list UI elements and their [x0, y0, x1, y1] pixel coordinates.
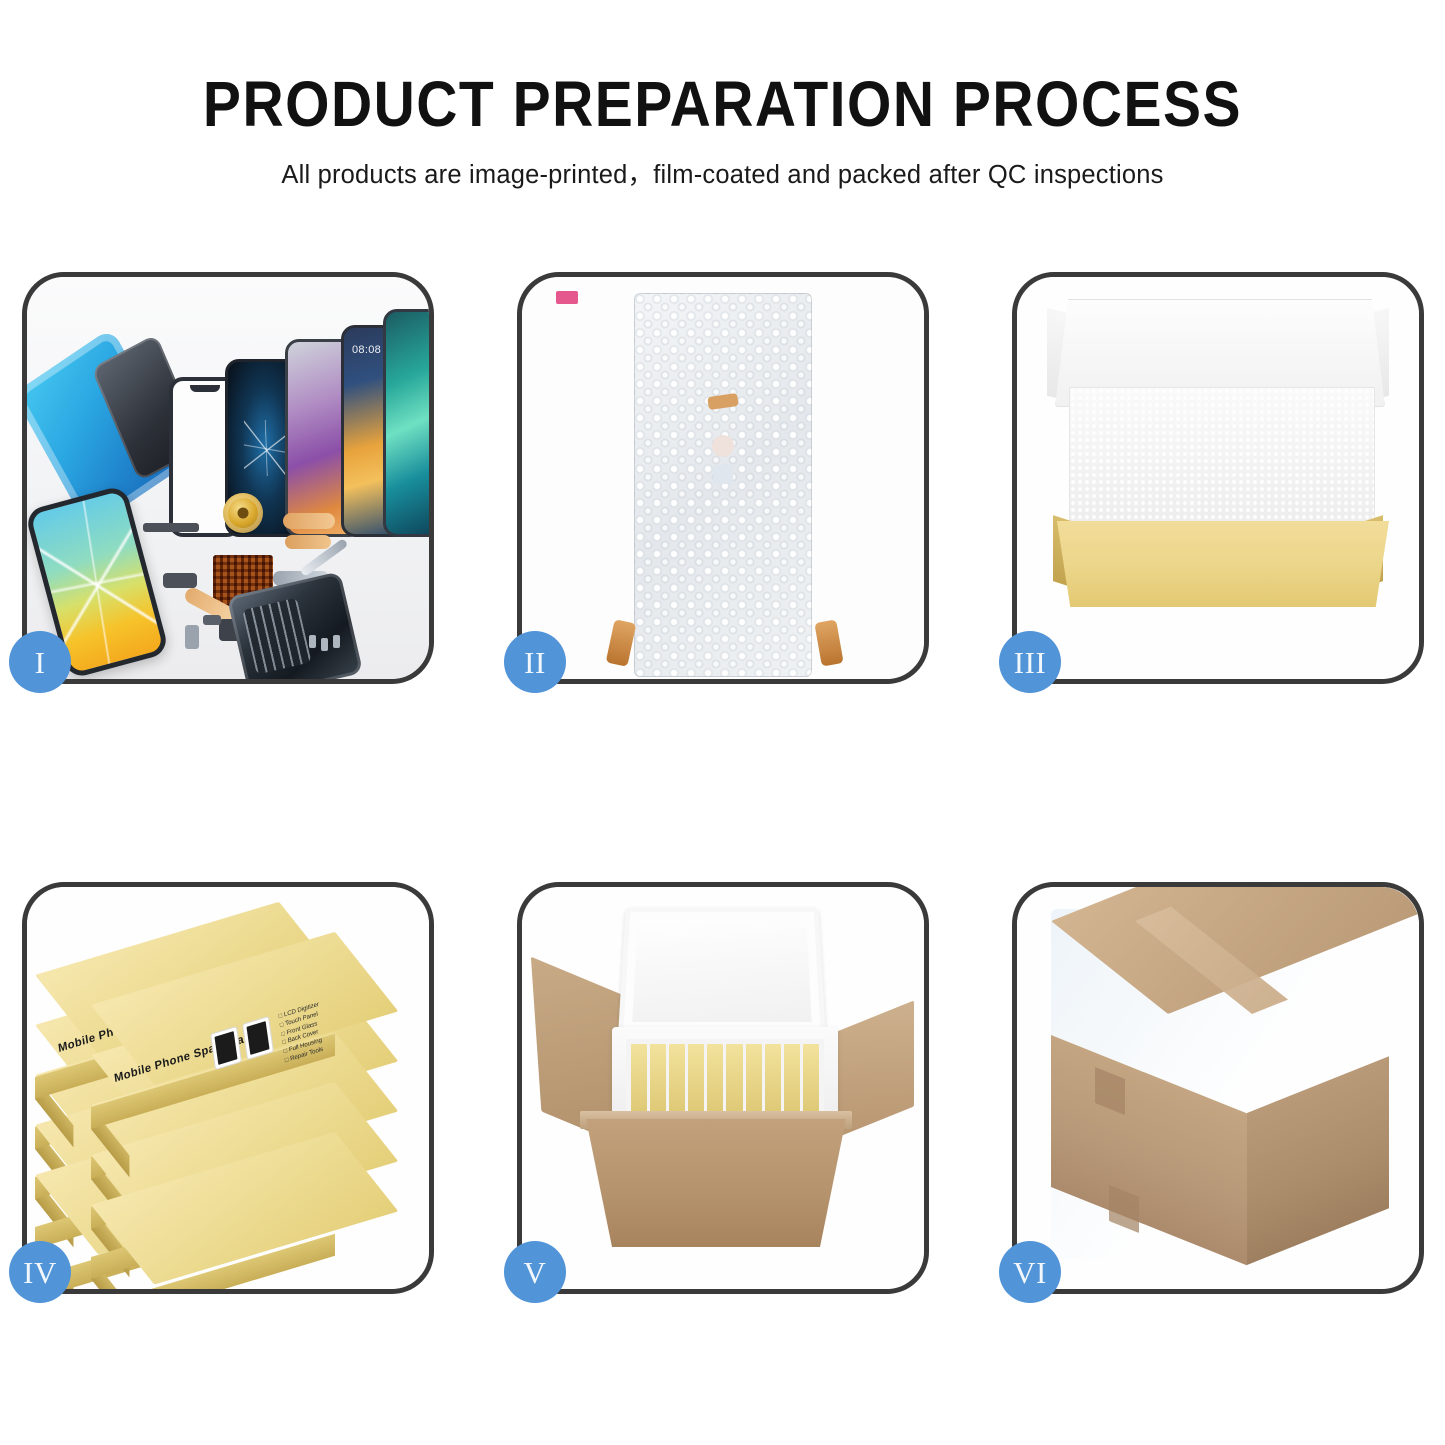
- parts-collage-image: [27, 277, 429, 679]
- open-mailer-box-image: [1017, 277, 1419, 679]
- page-subtitle: All products are image-printed，film-coat…: [0, 154, 1445, 191]
- screws-icon: [309, 635, 345, 651]
- step-badge-6: VI: [999, 1241, 1061, 1303]
- ic-chip-icon: [713, 465, 733, 484]
- step-badge-2: II: [504, 631, 566, 693]
- step-panel-4: Mobile Phone Spare Parts LCD Digitizer T…: [22, 882, 434, 1294]
- phone-thumb-icon: [211, 1027, 241, 1069]
- step-numeral: III: [1014, 647, 1046, 678]
- flex-cable-icon: [283, 513, 335, 529]
- phone-thumb-icon: [243, 1017, 273, 1059]
- screen-teal-icon: [383, 309, 429, 537]
- bubble-wrap-overlay: [634, 293, 812, 677]
- step-panel-3: III: [1012, 272, 1424, 684]
- process-steps-grid: I II: [22, 272, 1424, 1294]
- orange-flex-icon: [606, 619, 637, 667]
- carton-body: [586, 1119, 846, 1247]
- bubble-wrapped-lcd-image: [522, 277, 924, 679]
- stacked-retail-boxes-image: Mobile Phone Spare Parts LCD Digitizer T…: [27, 887, 429, 1289]
- step-badge-1: I: [9, 631, 71, 693]
- styrofoam-lid-icon: [618, 907, 826, 1035]
- step-numeral: IV: [23, 1257, 57, 1288]
- orange-flex-icon: [814, 619, 843, 666]
- components-group: [157, 509, 347, 661]
- step-badge-3: III: [999, 631, 1061, 693]
- screen-fan-group: [169, 305, 429, 537]
- qc-label-icon: [556, 291, 578, 304]
- step-badge-5: V: [504, 1241, 566, 1303]
- step-badge-4: IV: [9, 1241, 71, 1303]
- earpiece-icon: [143, 523, 199, 532]
- page-title: PRODUCT PREPARATION PROCESS: [0, 72, 1445, 139]
- camera-chip-icon: [712, 435, 734, 457]
- small-part-icon: [163, 573, 197, 588]
- step-numeral: V: [524, 1257, 547, 1288]
- step-numeral: VI: [1013, 1257, 1047, 1288]
- styrofoam-carton-image: [522, 887, 924, 1289]
- foam-sheet-icon: [1069, 387, 1375, 525]
- sim-tray-icon: [185, 625, 199, 649]
- small-part-icon: [203, 615, 221, 625]
- infographic-page: PRODUCT PREPARATION PROCESS All products…: [0, 0, 1445, 1445]
- step-panel-5: V: [517, 882, 929, 1294]
- step-panel-2: II: [517, 272, 929, 684]
- gold-box-front-icon: [1057, 521, 1389, 607]
- flex-cable-icon: [285, 535, 331, 549]
- sealed-carton-image: [1017, 887, 1419, 1289]
- step-panel-6: VI: [1012, 882, 1424, 1294]
- box-stack: Mobile Phone Spare Parts LCD Digitizer T…: [35, 909, 429, 1281]
- header: PRODUCT PREPARATION PROCESS All products…: [0, 0, 1445, 191]
- step-numeral: II: [524, 647, 546, 678]
- step-numeral: I: [35, 647, 46, 678]
- step-panel-1: I: [22, 272, 434, 684]
- speaker-module-icon: [223, 493, 263, 533]
